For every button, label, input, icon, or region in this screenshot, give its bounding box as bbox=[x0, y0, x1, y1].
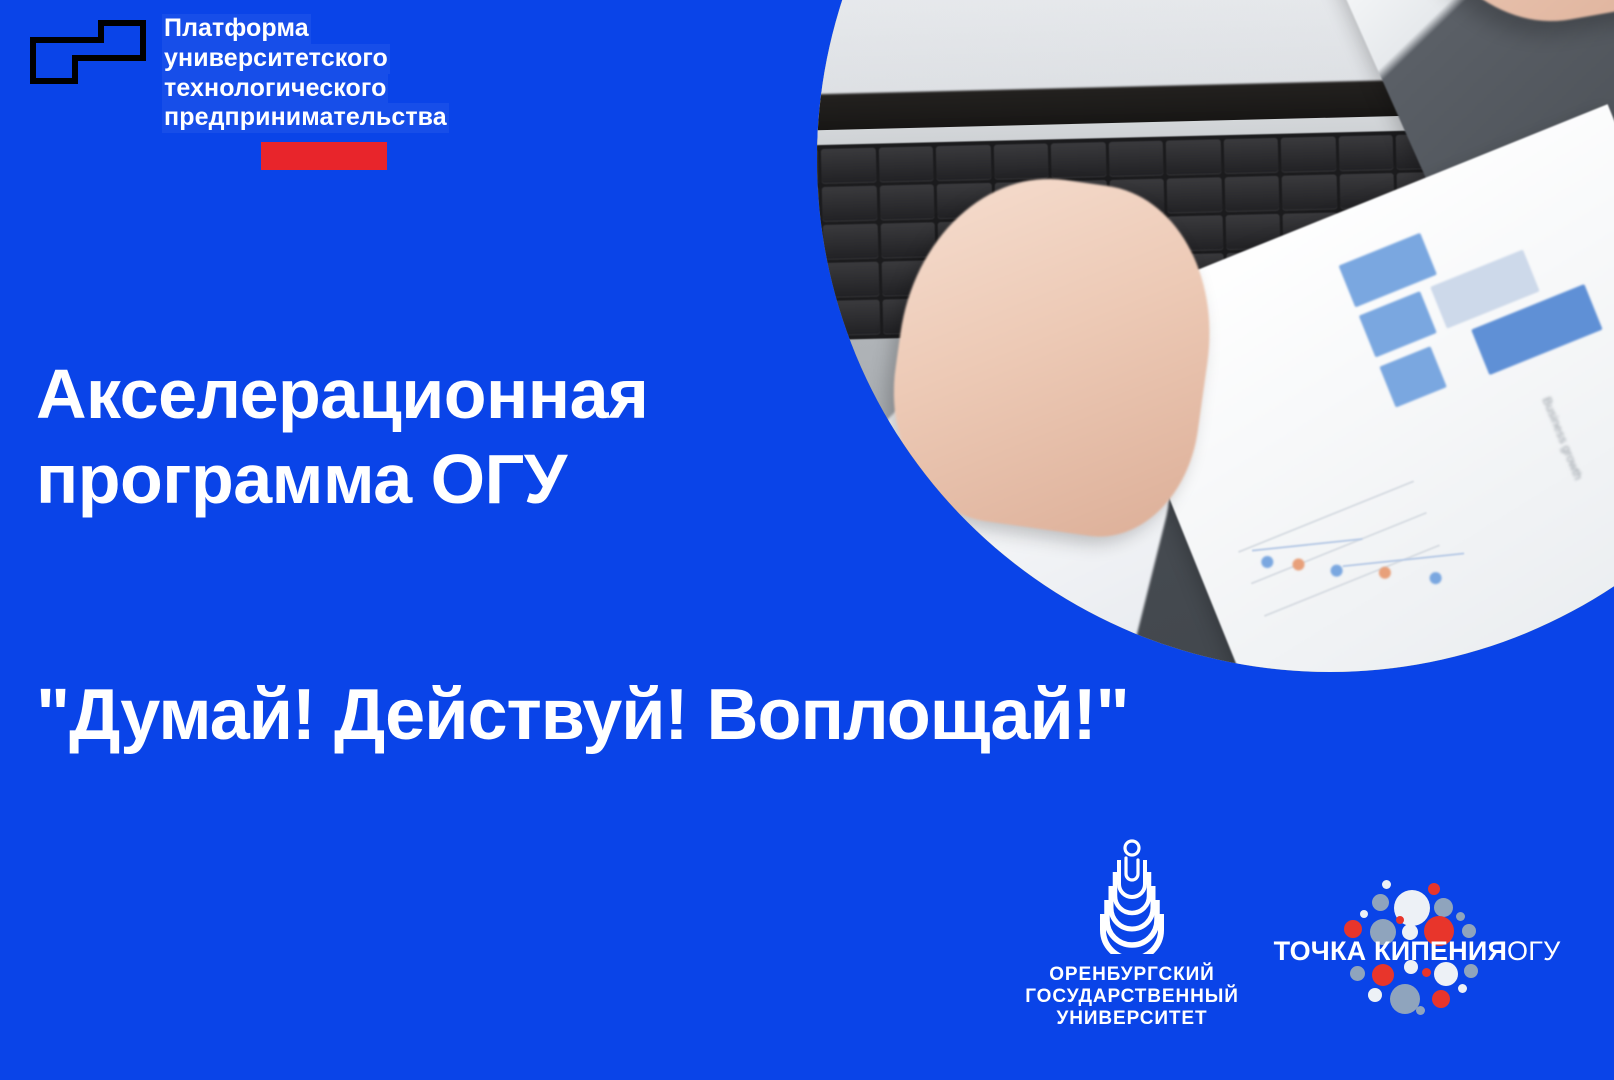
gantt-dot-4 bbox=[1427, 571, 1443, 587]
ogu-name-line-1: ОРЕНБУРГСКИЙ bbox=[1012, 964, 1252, 986]
bubble bbox=[1458, 984, 1467, 993]
keyboard-key bbox=[1339, 136, 1394, 172]
paper-rule-2 bbox=[1264, 544, 1439, 616]
platform-stepped-mark bbox=[28, 18, 148, 86]
keyboard-key bbox=[879, 147, 934, 183]
bubble bbox=[1432, 990, 1450, 1008]
keyboard-key bbox=[879, 185, 934, 221]
ogu-name-line-2: ГОСУДАРСТВЕННЫЙ bbox=[1012, 986, 1252, 1008]
platform-logo-line-3: технологического bbox=[162, 74, 388, 104]
tochka-kipeniya-logo: ТОЧКА КИПЕНИЯОГУ bbox=[1272, 872, 1562, 1032]
bubble bbox=[1416, 1006, 1425, 1015]
tochka-kipeniya-light-text: ОГУ bbox=[1507, 936, 1560, 966]
keyboard-key bbox=[817, 150, 819, 186]
platform-logo-line-1: Платформа bbox=[162, 14, 311, 44]
keyboard-key bbox=[994, 144, 1049, 180]
bubble bbox=[1456, 912, 1465, 921]
circular-workspace-photo: Quarter 1 33% 18% 14% 37% 25% bbox=[817, 0, 1614, 672]
keyboard-key bbox=[817, 188, 820, 224]
gantt-dot-1 bbox=[1290, 557, 1306, 573]
gantt-dot-3 bbox=[1377, 564, 1393, 580]
keyboard-key bbox=[825, 300, 880, 336]
ogu-name-line-3: УНИВЕРСИТЕТ bbox=[1012, 1008, 1252, 1030]
bubble bbox=[1350, 966, 1365, 981]
bubble bbox=[1372, 894, 1389, 911]
photo-content: Quarter 1 33% 18% 14% 37% 25% bbox=[817, 0, 1614, 672]
bubble bbox=[1396, 916, 1404, 924]
platform-logo-line-4: предпринимательства bbox=[162, 103, 449, 133]
keyboard-key bbox=[1224, 138, 1279, 174]
tochka-kipeniya-logo-text: ТОЧКА КИПЕНИЯОГУ bbox=[1272, 936, 1562, 967]
bubble bbox=[1372, 964, 1394, 986]
keyboard-key bbox=[817, 301, 823, 337]
keyboard-key bbox=[1281, 137, 1336, 173]
platform-logo-line-2: университетского bbox=[162, 44, 390, 74]
bubble bbox=[1360, 910, 1368, 918]
page-title: Акселерационная программа ОГУ bbox=[36, 352, 836, 521]
keyboard-key bbox=[1166, 140, 1221, 176]
bubble bbox=[1382, 880, 1391, 889]
slogan-text: "Думай! Действуй! Воплощай!" bbox=[36, 676, 1336, 755]
ogu-logo-text: ОРЕНБУРГСКИЙ ГОСУДАРСТВЕННЫЙ УНИВЕРСИТЕТ bbox=[1012, 964, 1252, 1031]
platform-logo: Платформа университетского технологическ… bbox=[28, 14, 449, 170]
paper-caption: Business growth bbox=[1540, 394, 1586, 481]
gantt-line-1 bbox=[1342, 552, 1463, 567]
ogu-logo: ОРЕНБУРГСКИЙ ГОСУДАРСТВЕННЫЙ УНИВЕРСИТЕТ bbox=[1012, 838, 1252, 1031]
keyboard-key bbox=[824, 262, 879, 298]
keyboard-key bbox=[1282, 175, 1337, 211]
ogu-stacked-book-mark bbox=[1086, 838, 1178, 954]
paper-bar-3 bbox=[1379, 346, 1447, 408]
keyboard-key bbox=[1051, 143, 1106, 179]
bubble bbox=[1428, 883, 1440, 895]
keyboard-key bbox=[936, 145, 991, 181]
keyboard-key bbox=[822, 186, 877, 222]
platform-logo-text: Платформа университетского технологическ… bbox=[162, 14, 449, 170]
keyboard-key bbox=[1167, 178, 1222, 214]
keyboard-key bbox=[821, 148, 876, 184]
keyboard-key bbox=[817, 226, 821, 262]
keyboard-key bbox=[1109, 141, 1164, 177]
presentation-slide: Quarter 1 33% 18% 14% 37% 25% bbox=[0, 0, 1614, 1080]
bubble bbox=[1434, 898, 1453, 917]
bubble bbox=[1422, 968, 1431, 977]
bubble bbox=[1368, 988, 1382, 1002]
platform-logo-accent-bar bbox=[261, 142, 387, 170]
keyboard-key bbox=[823, 224, 878, 260]
gantt-dot-0 bbox=[1259, 554, 1275, 570]
keyboard-key bbox=[817, 263, 822, 299]
keyboard-key bbox=[1225, 176, 1280, 212]
tochka-kipeniya-bold-text: ТОЧКА КИПЕНИЯ bbox=[1274, 936, 1507, 966]
